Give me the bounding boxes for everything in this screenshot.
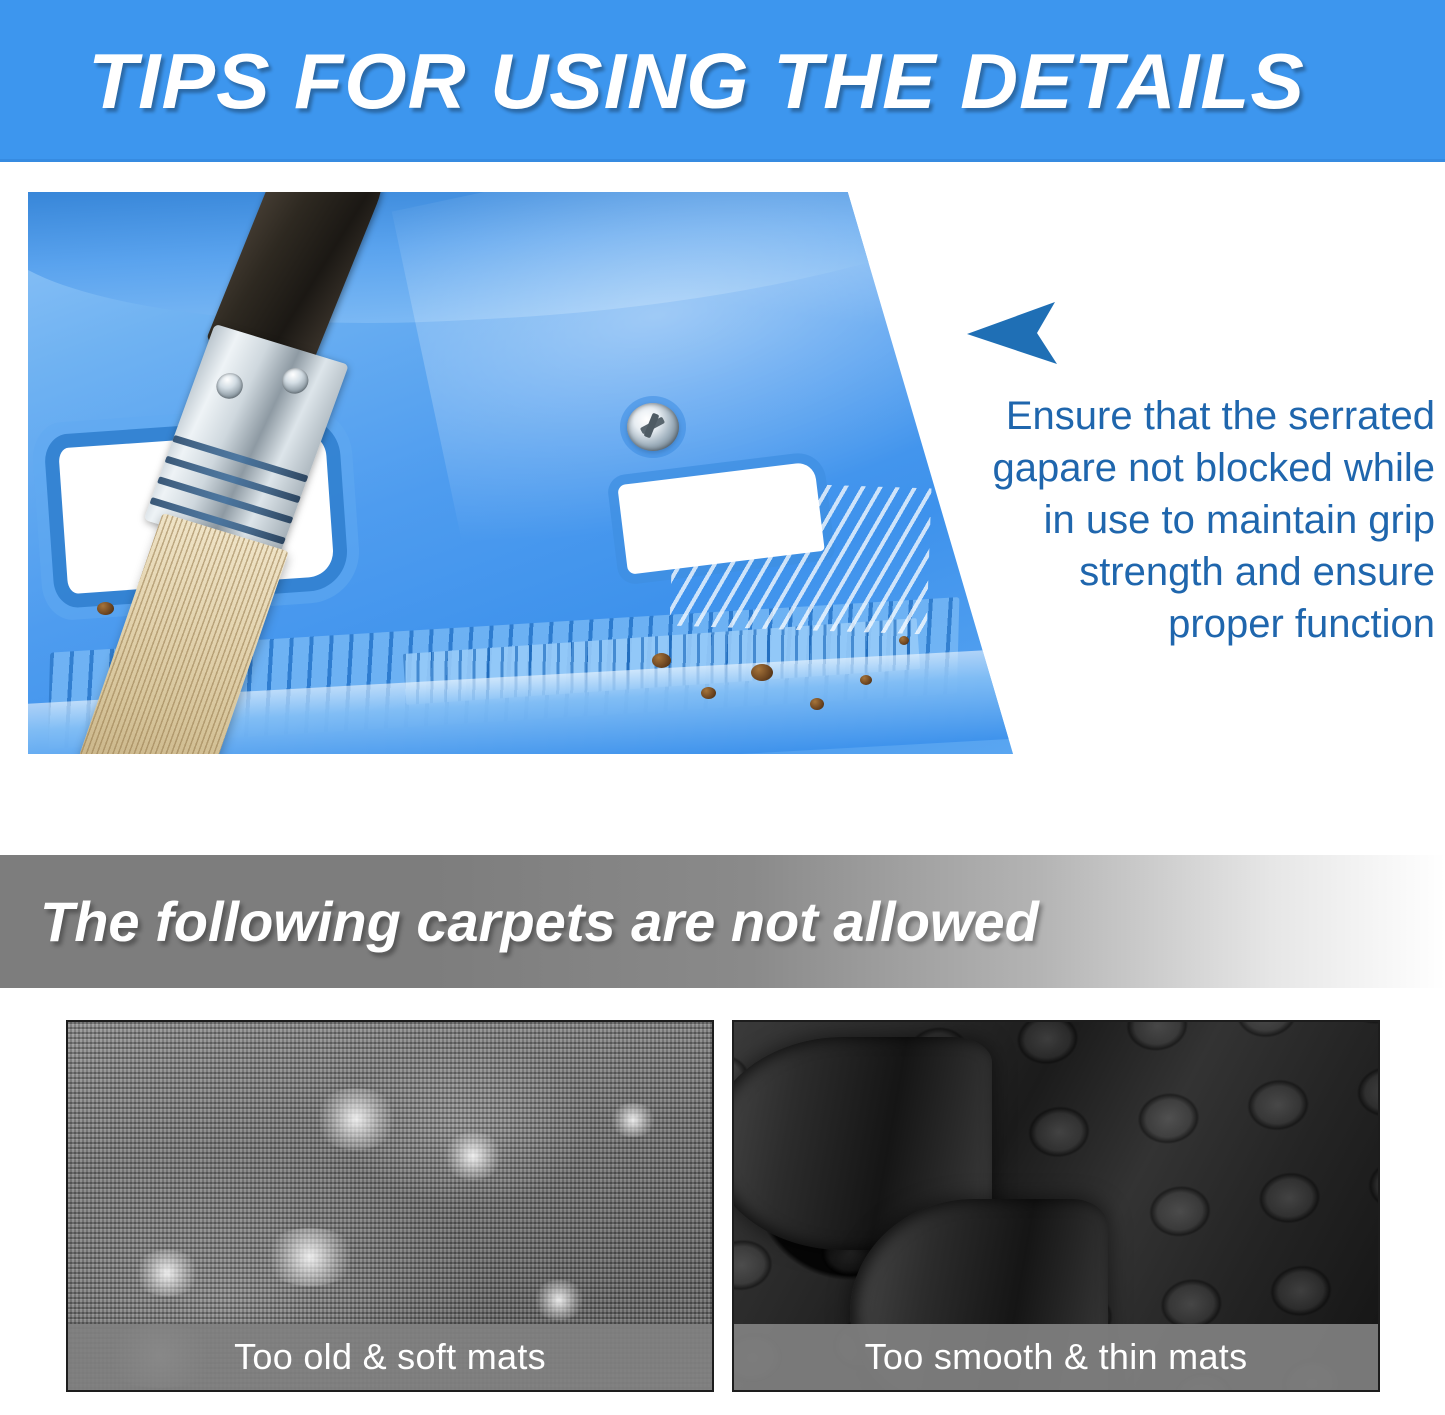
dirt-speck xyxy=(701,687,716,699)
brush-bristles xyxy=(75,513,289,754)
detail-callout: Ensure that the serrated gapare not bloc… xyxy=(965,300,1435,650)
warning-banner-title: The following carpets are not allowed xyxy=(40,889,1039,954)
page-title: TIPS FOR USING THE DETAILS xyxy=(88,36,1305,127)
detail-callout-text: Ensure that the serrated gapare not bloc… xyxy=(965,390,1435,650)
left-arrow-icon xyxy=(967,300,1063,366)
metal-screw xyxy=(627,403,679,451)
page-title-banner: TIPS FOR USING THE DETAILS xyxy=(0,0,1445,162)
dirt-speck xyxy=(652,653,671,668)
warning-panel-old-soft-mats: Too old & soft mats xyxy=(66,1020,714,1392)
dirt-speck xyxy=(810,698,824,710)
dirt-speck xyxy=(860,675,872,685)
product-detail-photo xyxy=(28,192,1018,754)
clip-saw-teeth xyxy=(669,480,931,635)
warning-banner: The following carpets are not allowed xyxy=(0,855,1445,988)
panel-caption: Too smooth & thin mats xyxy=(734,1324,1378,1390)
product-photo-image xyxy=(28,192,1018,754)
warning-panels: Too old & soft mats Too smooth & thin ma… xyxy=(66,1020,1380,1392)
dirt-speck xyxy=(751,664,773,681)
panel-caption: Too old & soft mats xyxy=(68,1324,712,1390)
warning-panel-smooth-thin-mats: Too smooth & thin mats xyxy=(732,1020,1380,1392)
